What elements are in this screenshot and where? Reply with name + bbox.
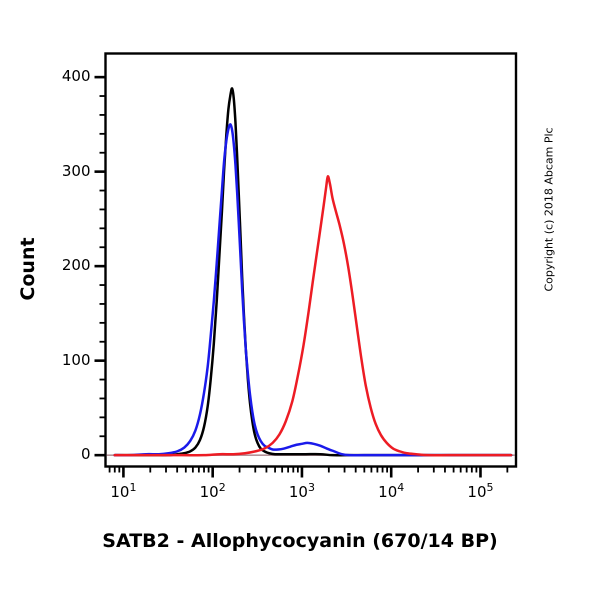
figure-background (0, 0, 600, 600)
flow-cytometry-histogram (0, 0, 600, 600)
